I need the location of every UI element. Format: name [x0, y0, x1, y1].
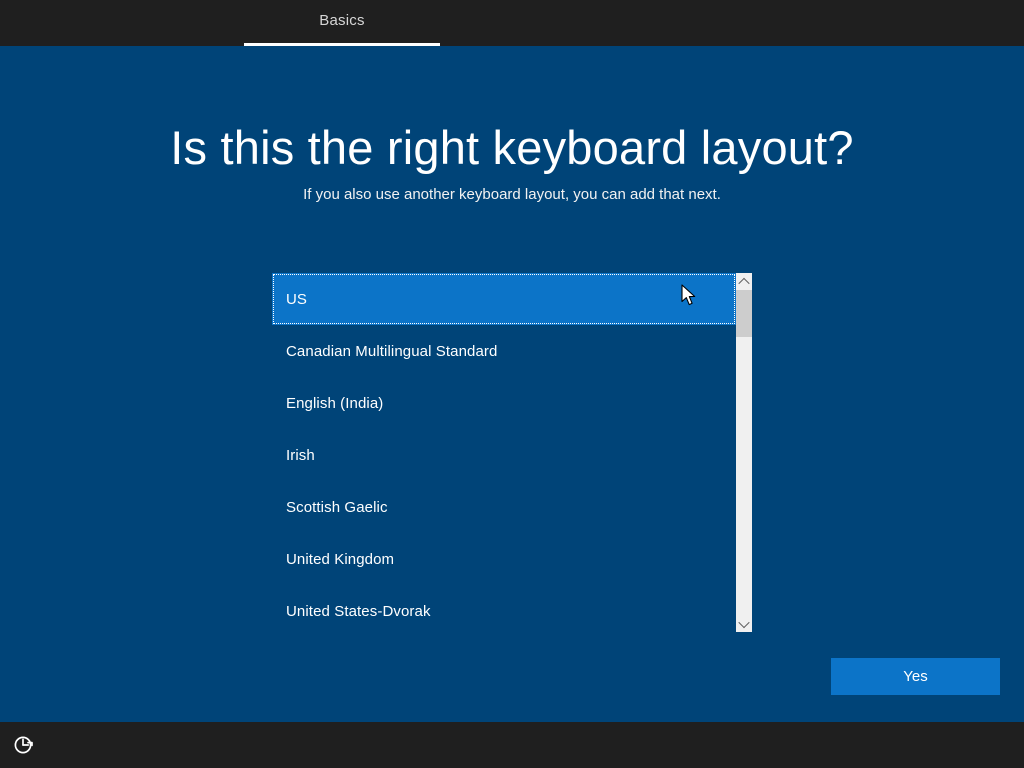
- oobe-keyboard-layout-screen: Basics Is this the right keyboard layout…: [0, 0, 1024, 768]
- list-item-label: Canadian Multilingual Standard: [286, 344, 497, 359]
- scrollbar-up-button[interactable]: [736, 273, 752, 290]
- chevron-down-icon: [738, 616, 749, 627]
- scrollbar-thumb[interactable]: [736, 290, 752, 337]
- scrollbar-down-button[interactable]: [736, 615, 752, 632]
- list-item-label: US: [286, 292, 307, 307]
- list-item[interactable]: US: [272, 273, 736, 325]
- bottom-chrome-bar: [0, 722, 1024, 768]
- list-item-label: Scottish Gaelic: [286, 500, 388, 515]
- tab-basics-label: Basics: [319, 13, 364, 31]
- keyboard-layout-listbox[interactable]: USCanadian Multilingual StandardEnglish …: [272, 273, 752, 632]
- keyboard-layout-list: USCanadian Multilingual StandardEnglish …: [272, 273, 736, 632]
- list-item[interactable]: Canadian Multilingual Standard: [272, 325, 736, 377]
- top-chrome-bar: Basics: [0, 0, 1024, 46]
- list-item[interactable]: Scottish Gaelic: [272, 481, 736, 533]
- page-subtitle: If you also use another keyboard layout,…: [0, 186, 1024, 204]
- list-item-label: United States-Dvorak: [286, 604, 431, 619]
- tab-basics[interactable]: Basics: [244, 0, 440, 46]
- list-item[interactable]: English (India): [272, 377, 736, 429]
- confirm-yes-button[interactable]: Yes: [831, 658, 1000, 695]
- list-item[interactable]: United Kingdom: [272, 533, 736, 585]
- ease-of-access-icon[interactable]: [12, 733, 36, 757]
- list-item-label: Irish: [286, 448, 315, 463]
- listbox-scrollbar[interactable]: [736, 273, 752, 632]
- page-title: Is this the right keyboard layout?: [0, 122, 1024, 175]
- list-item[interactable]: United States-Dvorak: [272, 585, 736, 632]
- chevron-up-icon: [738, 277, 749, 288]
- list-item[interactable]: Irish: [272, 429, 736, 481]
- list-item-label: United Kingdom: [286, 552, 394, 567]
- list-item-label: English (India): [286, 396, 383, 411]
- scrollbar-track[interactable]: [736, 290, 752, 615]
